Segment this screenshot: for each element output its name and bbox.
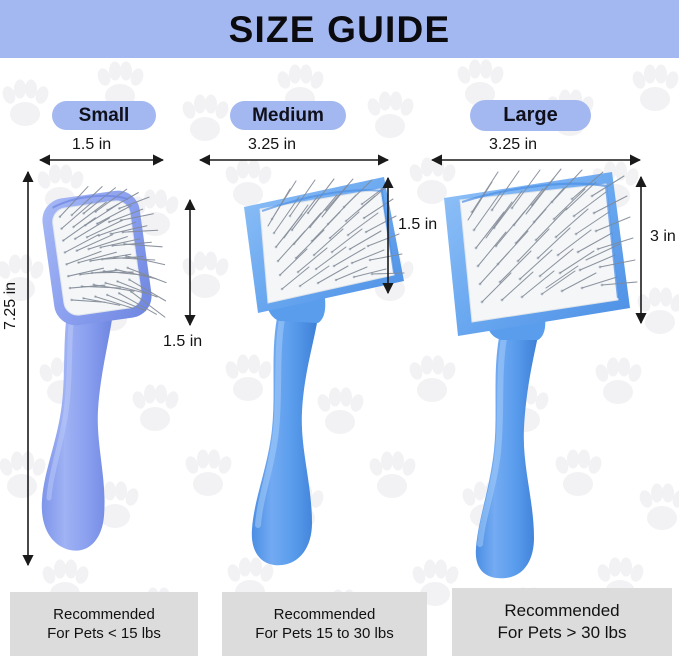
size-badge-medium[interactable]: Medium <box>230 101 346 130</box>
dimension-label-small-width: 1.5 in <box>72 136 111 154</box>
dimension-label-total-height: 7.25 in <box>2 282 20 330</box>
page-header: SIZE GUIDE <box>0 0 679 58</box>
size-badge-small-label: Small <box>79 105 130 127</box>
dimension-label-small-height: 1.5 in <box>163 333 202 351</box>
recommendation-box-small: Recommended For Pets < 15 lbs <box>10 592 198 656</box>
recommendation-large-line1: Recommended <box>504 600 619 622</box>
size-guide-page: SIZE GUIDE <box>0 0 679 665</box>
dimension-label-medium-height: 1.5 in <box>398 216 437 234</box>
recommendation-box-large: Recommended For Pets > 30 lbs <box>452 588 672 656</box>
dimension-label-large-height: 3 in <box>650 228 676 246</box>
recommendation-small-line1: Recommended <box>53 605 155 624</box>
recommendation-medium-line1: Recommended <box>274 605 376 624</box>
recommendation-large-line2: For Pets > 30 lbs <box>498 622 627 644</box>
dimension-label-medium-width: 3.25 in <box>248 136 296 154</box>
recommendation-small-line2: For Pets < 15 lbs <box>47 624 161 643</box>
page-title: SIZE GUIDE <box>229 11 451 48</box>
dimension-label-large-width: 3.25 in <box>489 136 537 154</box>
size-badge-small[interactable]: Small <box>52 101 156 130</box>
size-badge-large-label: Large <box>503 104 557 127</box>
recommendation-medium-line2: For Pets 15 to 30 lbs <box>255 624 393 643</box>
recommendation-box-medium: Recommended For Pets 15 to 30 lbs <box>222 592 427 656</box>
size-badge-medium-label: Medium <box>252 105 324 127</box>
size-badge-large[interactable]: Large <box>470 100 591 131</box>
